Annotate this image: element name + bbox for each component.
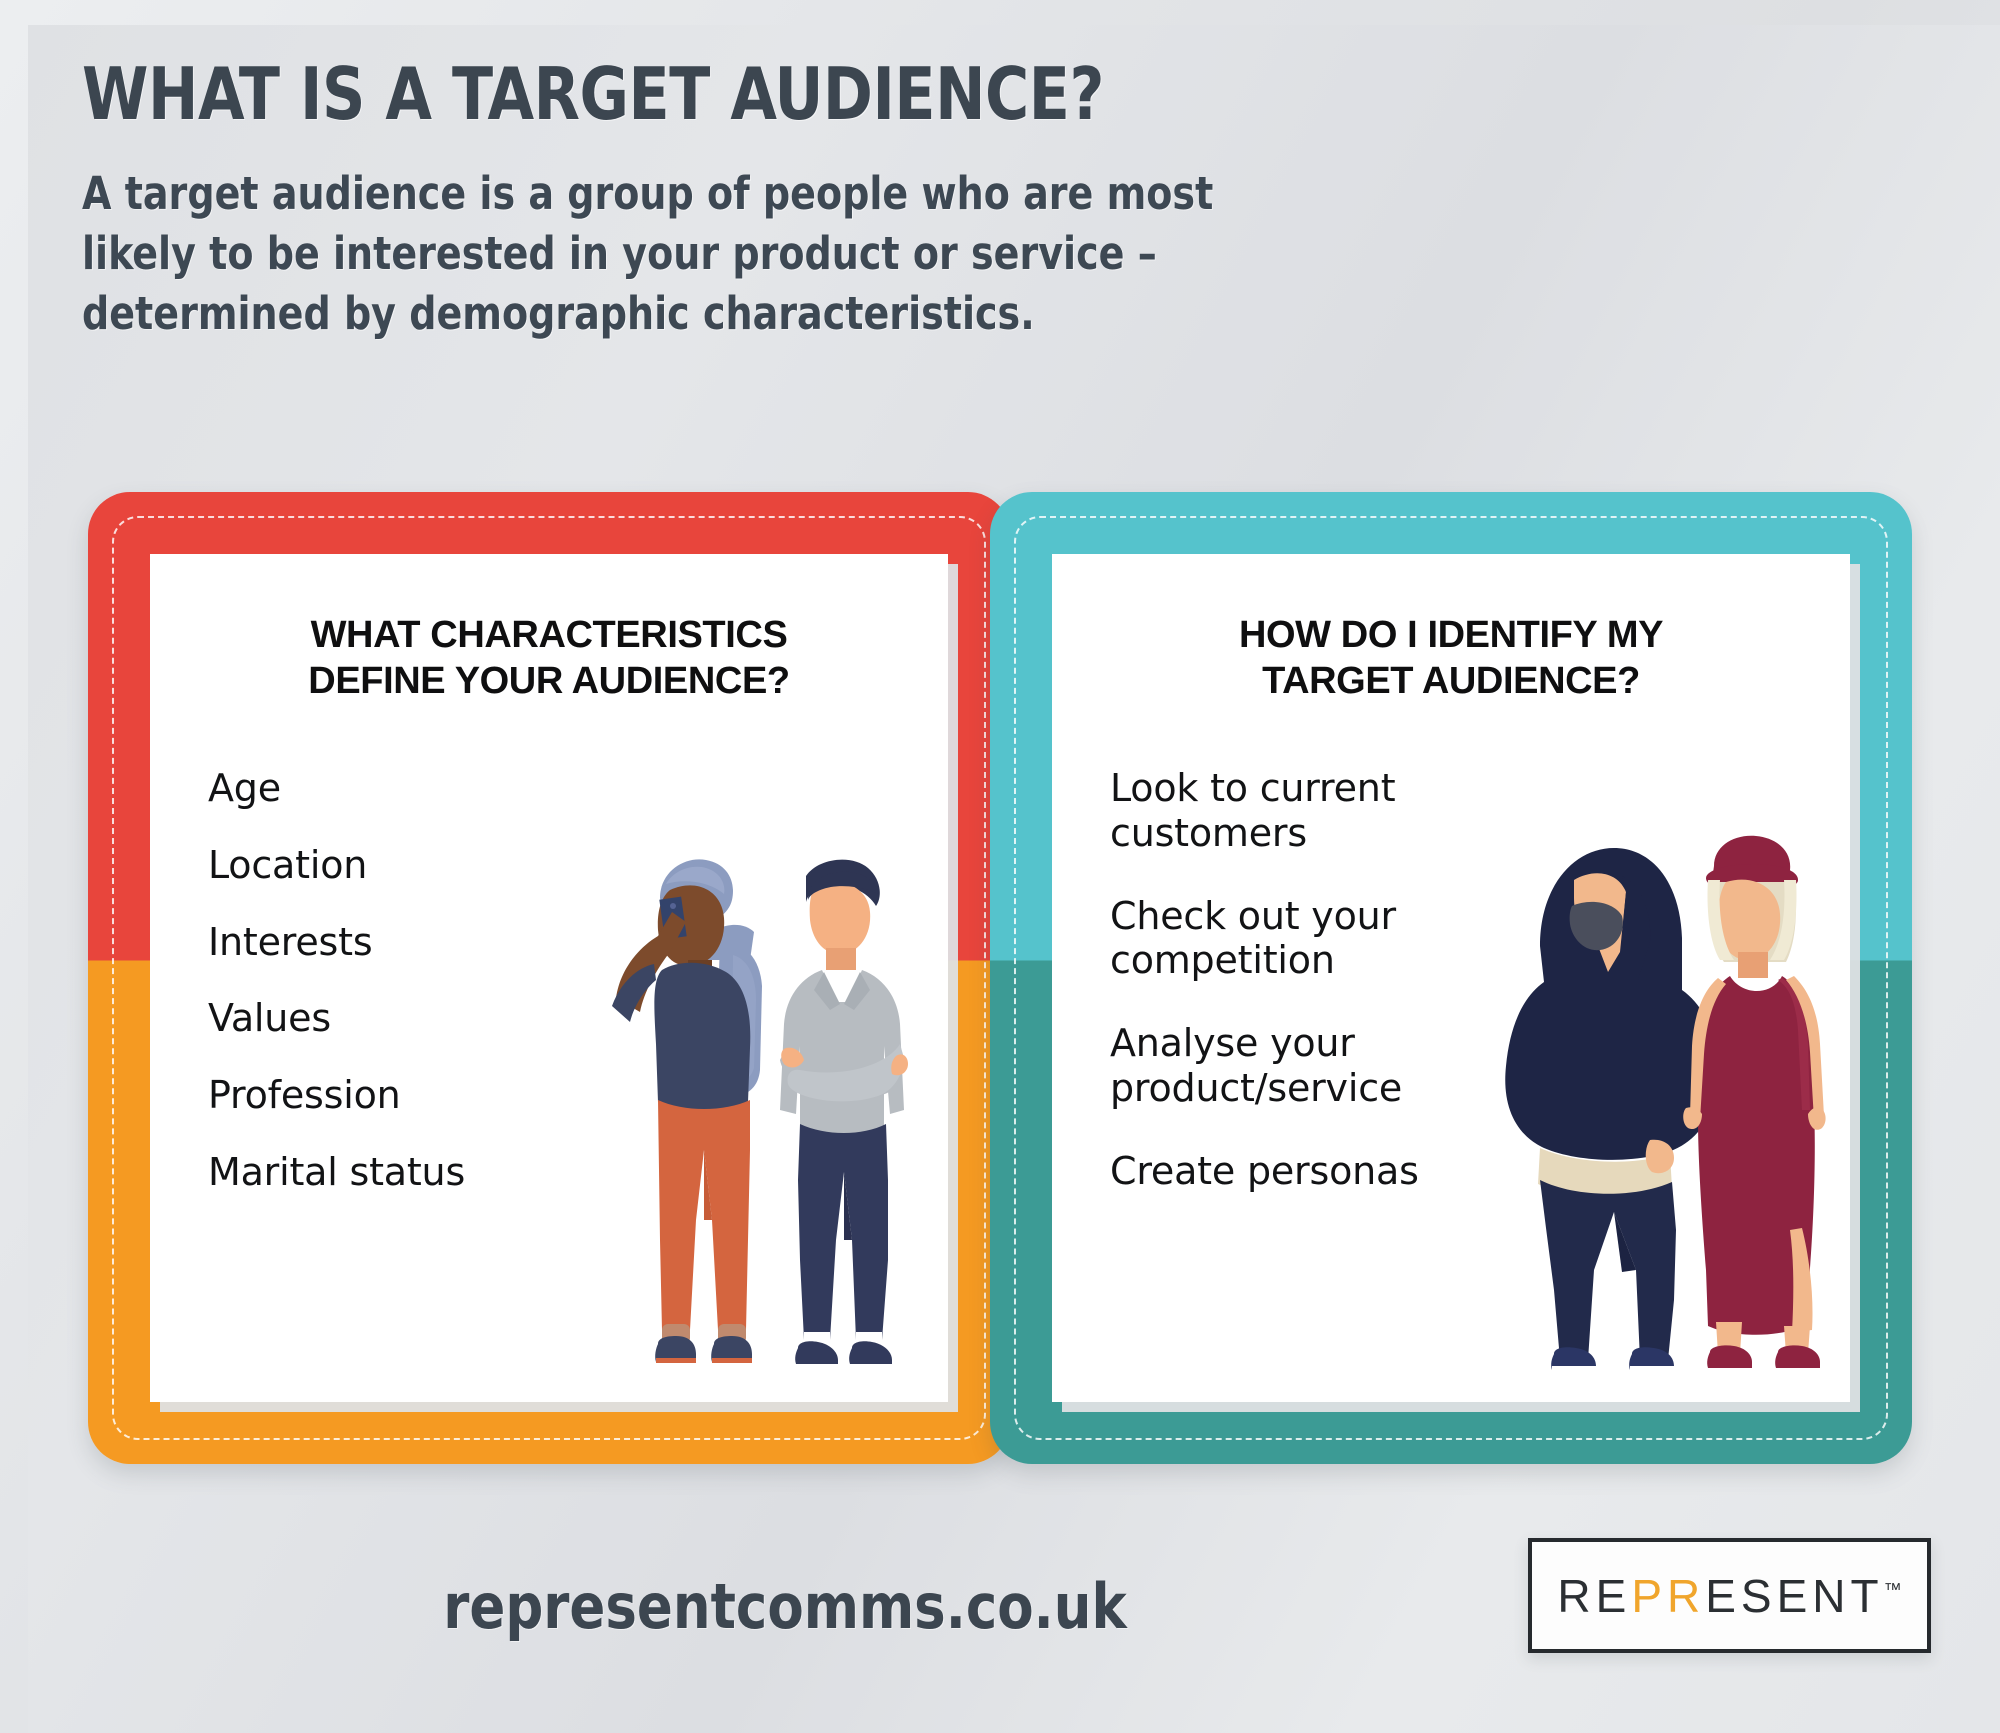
list-item: Location: [208, 843, 558, 888]
website-url[interactable]: representcomms.co.uk: [39, 1570, 1531, 1643]
logo-part-1: RE: [1557, 1570, 1631, 1622]
characteristics-list: Age Location Interests Values Profession…: [208, 766, 558, 1227]
card-characteristics: WHAT CHARACTERISTICS DEFINE YOUR AUDIENC…: [150, 554, 948, 1402]
list-item: Marital status: [208, 1150, 558, 1195]
subtitle-line-2: likely to be interested in your product …: [82, 224, 1492, 284]
card-title-line-2: TARGET AUDIENCE?: [1052, 658, 1850, 704]
card-title-line-1: HOW DO I IDENTIFY MY: [1052, 612, 1850, 658]
infographic-canvas: WHAT IS A TARGET AUDIENCE? A target audi…: [0, 0, 2000, 1733]
list-item: Values: [208, 996, 558, 1041]
logo-part-accent: PR: [1631, 1570, 1705, 1622]
logo-part-3: ESENT: [1705, 1570, 1883, 1622]
card-identify: HOW DO I IDENTIFY MY TARGET AUDIENCE? Lo…: [1052, 554, 1850, 1402]
subtitle-line-1: A target audience is a group of people w…: [82, 164, 1492, 224]
list-item: Analyse your product/service: [1110, 1021, 1460, 1111]
list-item: Interests: [208, 920, 558, 965]
trademark-symbol: ™: [1884, 1579, 1902, 1599]
logo-wordmark: REPRESENT™: [1557, 1569, 1901, 1623]
page-subtitle: A target audience is a group of people w…: [82, 164, 1492, 344]
header: WHAT IS A TARGET AUDIENCE? A target audi…: [82, 58, 1582, 344]
illustration-characteristics: [600, 820, 920, 1380]
list-item: Profession: [208, 1073, 558, 1118]
card-title-line-2: DEFINE YOUR AUDIENCE?: [150, 658, 948, 704]
card-frame-identify: HOW DO I IDENTIFY MY TARGET AUDIENCE? Lo…: [990, 492, 1912, 1464]
card-frame-characteristics: WHAT CHARACTERISTICS DEFINE YOUR AUDIENC…: [88, 492, 1010, 1464]
list-item: Create personas: [1110, 1149, 1460, 1194]
list-item: Age: [208, 766, 558, 811]
page-title: WHAT IS A TARGET AUDIENCE?: [82, 58, 1477, 130]
subtitle-line-3: determined by demographic characteristic…: [82, 284, 1492, 344]
card-title-characteristics: WHAT CHARACTERISTICS DEFINE YOUR AUDIENC…: [150, 612, 948, 705]
card-title-line-1: WHAT CHARACTERISTICS: [150, 612, 948, 658]
identify-list: Look to current customers Check out your…: [1110, 766, 1460, 1232]
card-title-identify: HOW DO I IDENTIFY MY TARGET AUDIENCE?: [1052, 612, 1850, 705]
list-item: Look to current customers: [1110, 766, 1460, 856]
list-item: Check out your competition: [1110, 894, 1460, 984]
illustration-identify: [1502, 820, 1832, 1380]
represent-logo[interactable]: REPRESENT™: [1528, 1538, 1931, 1653]
